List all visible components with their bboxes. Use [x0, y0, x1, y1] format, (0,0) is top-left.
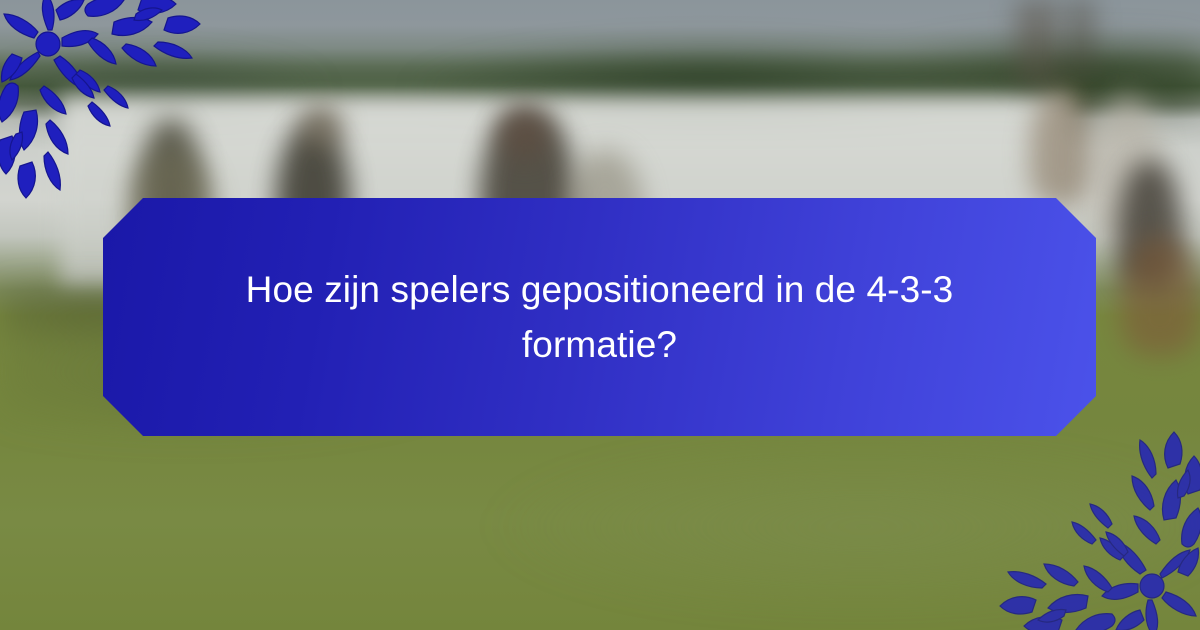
background-post	[1068, 0, 1094, 74]
background-person-head	[498, 106, 550, 160]
background-person-silhouette	[1030, 86, 1094, 206]
page-title: Hoe zijn spelers gepositioneerd in de 4-…	[220, 262, 980, 372]
screenshot-canvas: Hoe zijn spelers gepositioneerd in de 4-…	[0, 0, 1200, 630]
title-banner: Hoe zijn spelers gepositioneerd in de 4-…	[103, 198, 1096, 436]
background-person-head	[300, 104, 342, 150]
background-post	[1016, 0, 1058, 86]
